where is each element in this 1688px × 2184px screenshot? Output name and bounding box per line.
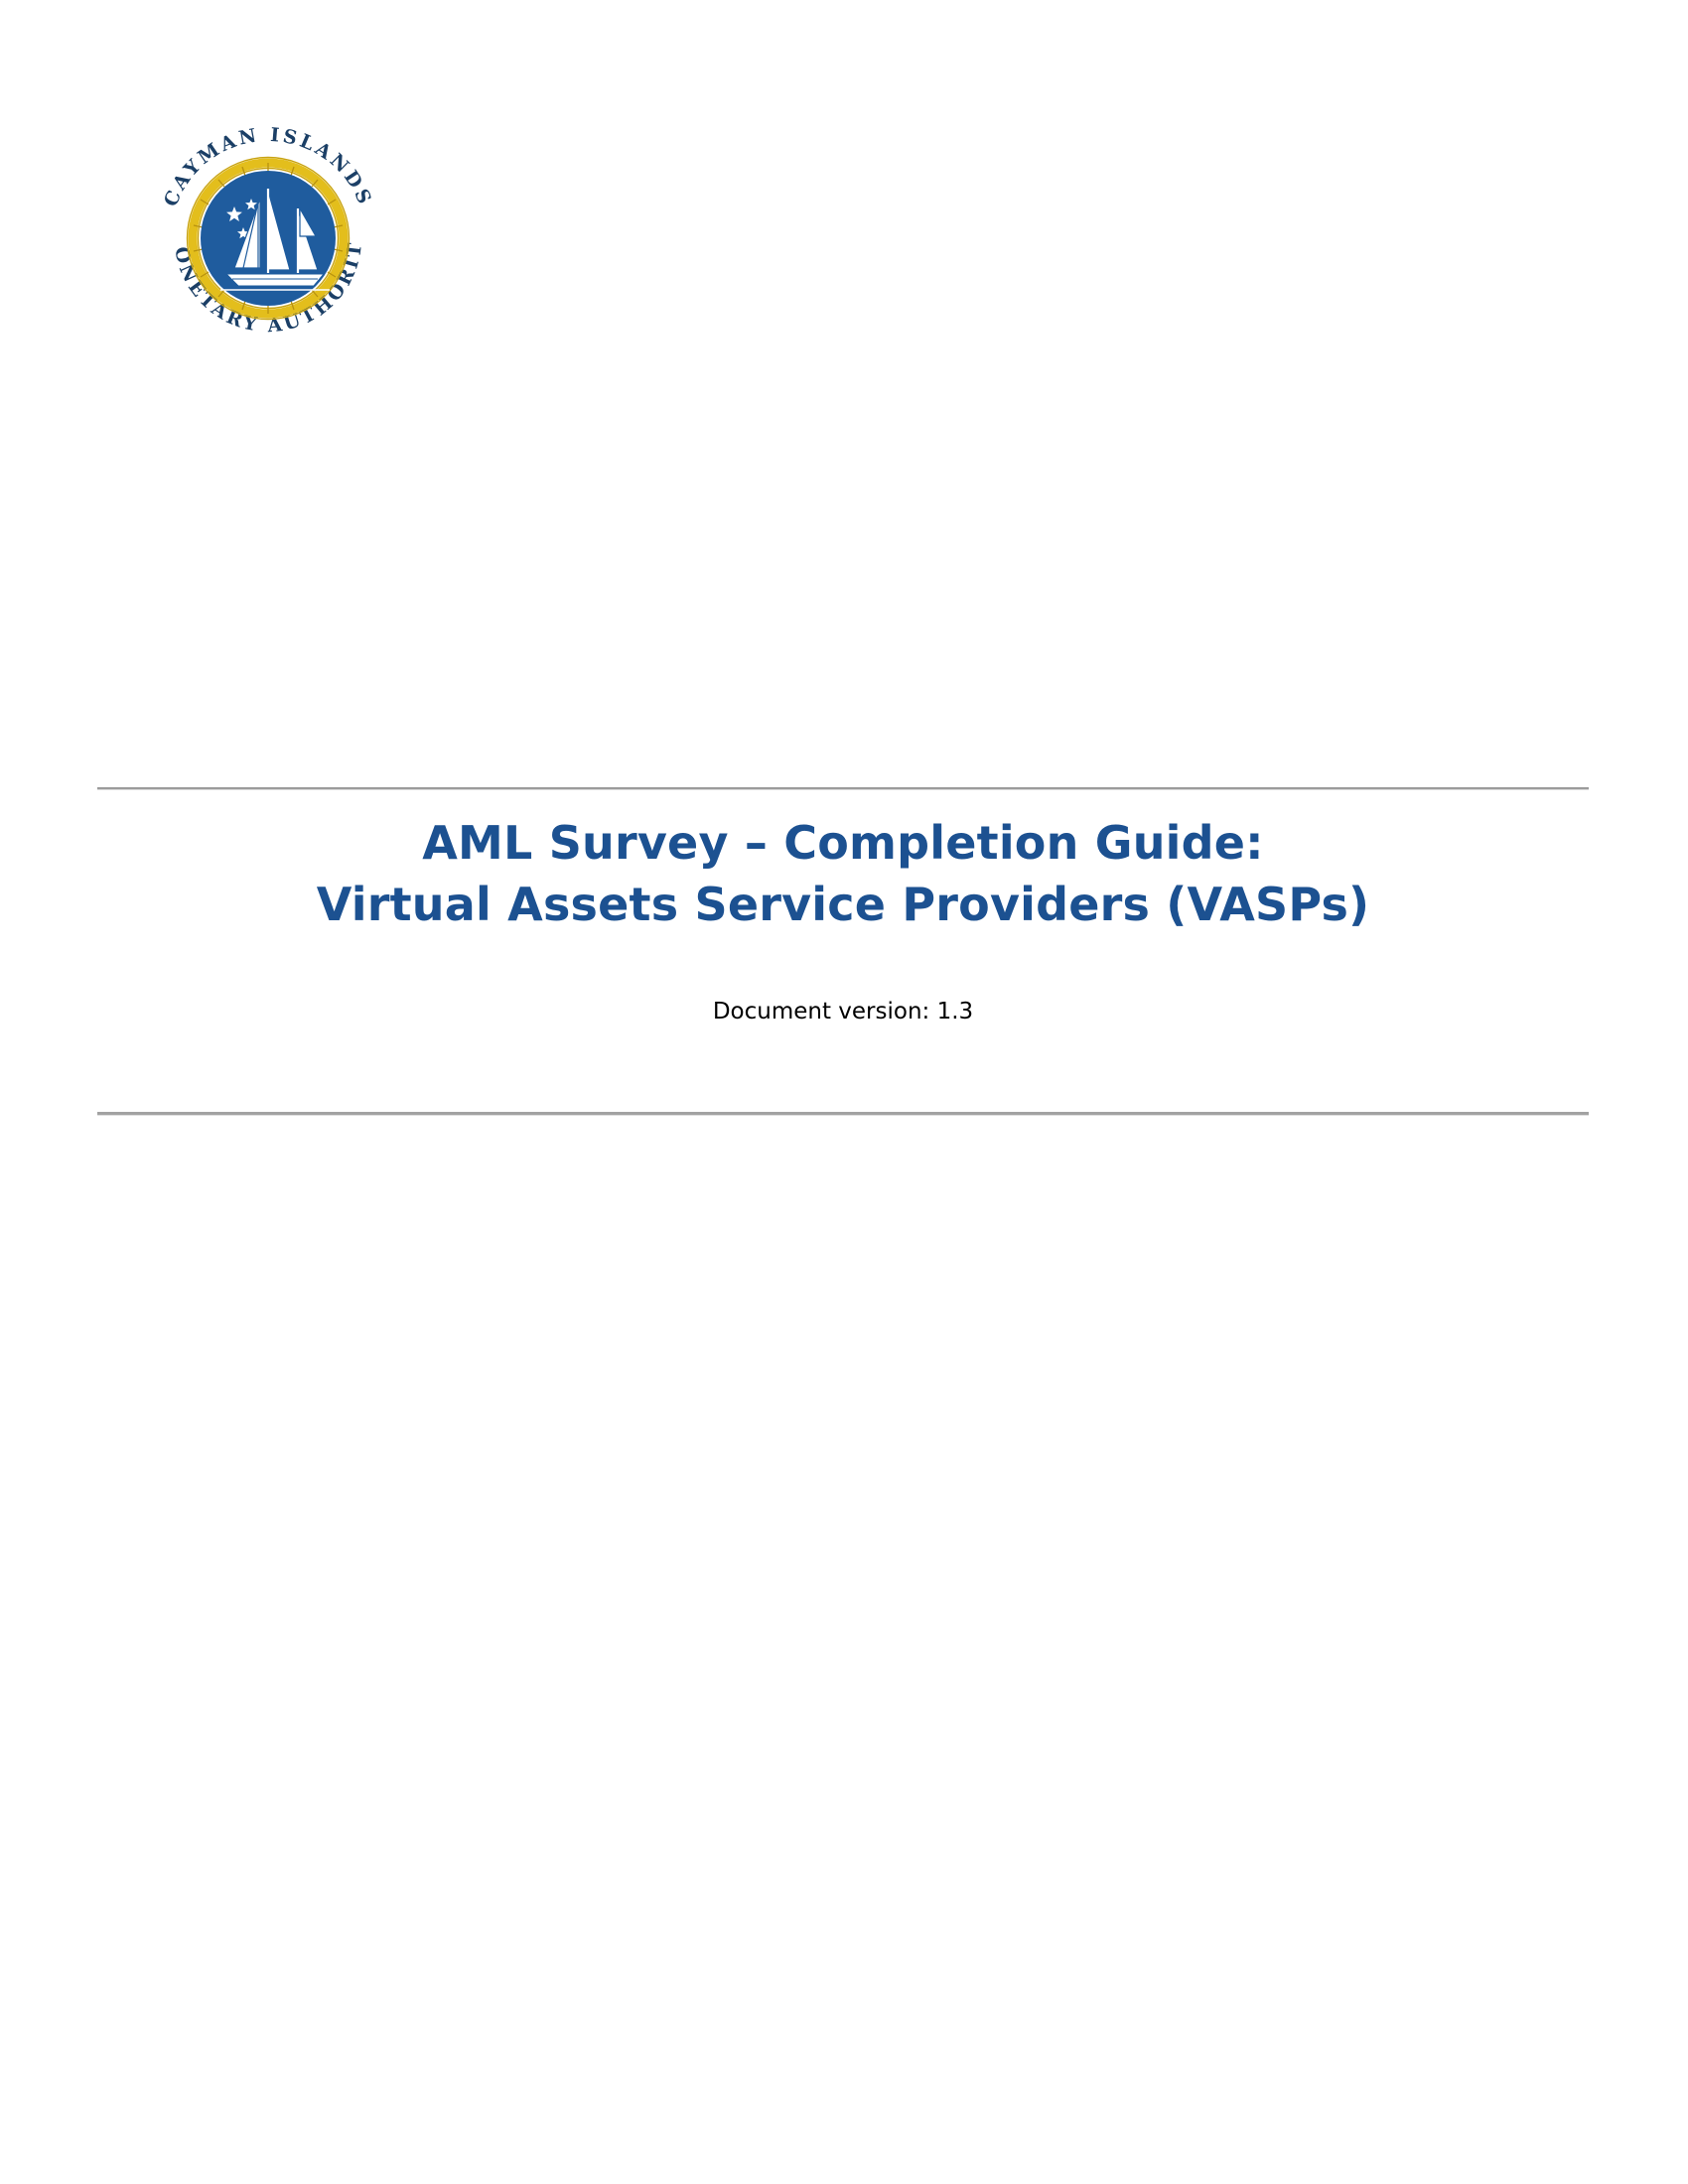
page-title-line-2: Virtual Assets Service Providers (VASPs) xyxy=(97,874,1589,935)
organization-logo: CAYMAN ISLANDS MONETARY AUTHORITY xyxy=(149,119,387,342)
title-band: AML Survey – Completion Guide: Virtual A… xyxy=(97,787,1589,1026)
divider-bottom xyxy=(97,1112,1589,1116)
cima-seal-icon: CAYMAN ISLANDS MONETARY AUTHORITY xyxy=(149,119,387,342)
title-area: AML Survey – Completion Guide: Virtual A… xyxy=(97,790,1589,1026)
document-version-label: Document version: 1.3 xyxy=(97,997,1589,1026)
document-cover-page: CAYMAN ISLANDS MONETARY AUTHORITY xyxy=(0,0,1688,2184)
page-title-line-1: AML Survey – Completion Guide: xyxy=(97,812,1589,874)
